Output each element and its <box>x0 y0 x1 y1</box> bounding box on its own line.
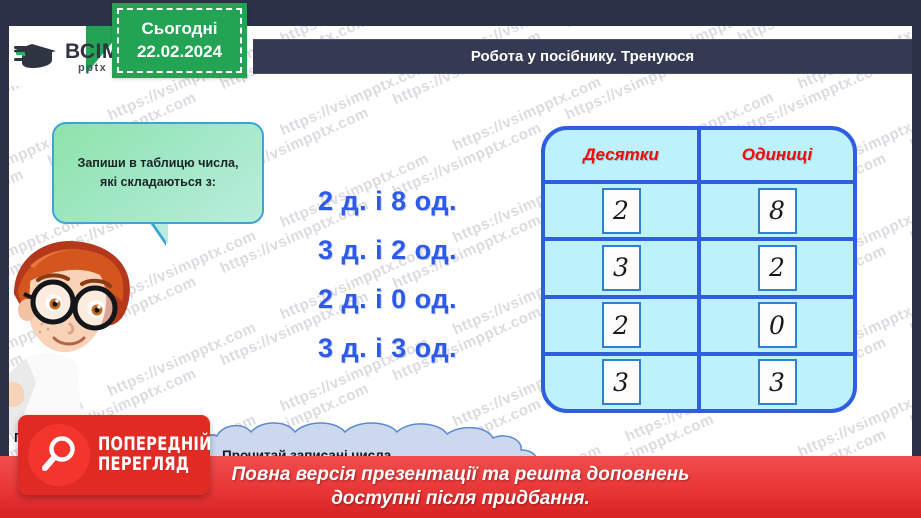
slide-left-frame <box>0 0 9 518</box>
preview-badge-line-1: ПОПЕРЕДНІЙ <box>98 435 212 455</box>
today-date-badge: Сьогодні 22.02.2024 <box>112 3 247 78</box>
table-row: 32 <box>545 241 853 298</box>
preview-badge[interactable]: ПОПЕРЕДНІЙ ПЕРЕГЛЯД <box>18 415 210 495</box>
answer-box[interactable]: 3 <box>758 359 797 405</box>
table-body: 28322033 <box>545 184 853 409</box>
slide-root: https://vsimpptx.com https://vsimpptx.co… <box>0 0 921 518</box>
tens-units-table: Десятки Одиниці 28322033 <box>541 126 857 413</box>
table-cell-units[interactable]: 0 <box>701 299 853 352</box>
table-row: 28 <box>545 184 853 241</box>
banner-line-2: доступні після придбання. <box>331 487 590 511</box>
table-cell-tens[interactable]: 2 <box>545 299 701 352</box>
table-header-tens: Десятки <box>545 130 701 180</box>
table-cell-units[interactable]: 8 <box>701 184 853 237</box>
preview-badge-line-2: ПЕРЕГЛЯД <box>98 455 212 475</box>
answer-box[interactable]: 3 <box>602 245 641 291</box>
table-row: 20 <box>545 299 853 356</box>
answer-box[interactable]: 2 <box>758 245 797 291</box>
today-label: Сьогодні <box>142 18 218 41</box>
number-list-item: 3 д. і 2 од. <box>318 237 548 264</box>
table-cell-tens[interactable]: 3 <box>545 356 701 409</box>
table-cell-units[interactable]: 3 <box>701 356 853 409</box>
answer-box[interactable]: 2 <box>602 188 641 234</box>
answer-box[interactable]: 3 <box>602 359 641 405</box>
instruction-line-1: Запиши в таблицю числа, <box>78 154 239 173</box>
number-composition-list: 2 д. і 8 од.3 д. і 2 од.2 д. і 0 од.3 д.… <box>318 188 548 384</box>
table-header-units: Одиниці <box>701 130 853 180</box>
table-cell-tens[interactable]: 2 <box>545 184 701 237</box>
table-header-row: Десятки Одиниці <box>545 130 853 184</box>
answer-box[interactable]: 2 <box>602 302 641 348</box>
table-cell-units[interactable]: 2 <box>701 241 853 294</box>
number-list-item: 2 д. і 8 од. <box>318 188 548 215</box>
boy-character-illustration <box>0 232 186 432</box>
slide-right-frame <box>912 0 921 518</box>
slide-title-bar: Робота у посібнику. Тренуюся <box>253 39 912 74</box>
number-list-item: 2 д. і 0 од. <box>318 286 548 313</box>
magnifier-icon <box>28 424 90 486</box>
answer-box[interactable]: 0 <box>758 302 797 348</box>
number-list-item: 3 д. і 3 од. <box>318 335 548 362</box>
answer-box[interactable]: 8 <box>758 188 797 234</box>
page-title: Робота у посібнику. Тренуюся <box>471 48 694 65</box>
instruction-speech-bubble: Запиши в таблицю числа, які складаються … <box>52 122 264 224</box>
banner-line-1: Повна версія презентації та решта доповн… <box>232 463 690 487</box>
table-cell-tens[interactable]: 3 <box>545 241 701 294</box>
graduation-cap-icon <box>14 38 60 76</box>
instruction-line-2: які складаються з: <box>100 173 216 192</box>
today-date: 22.02.2024 <box>137 41 222 64</box>
table-row: 33 <box>545 356 853 409</box>
